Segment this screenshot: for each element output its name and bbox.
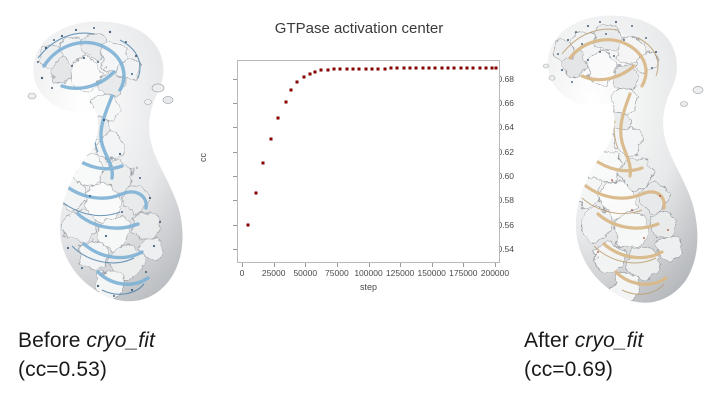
data-point: [402, 67, 405, 70]
data-point: [465, 67, 468, 70]
cc-vs-step-chart: GTPase activation center cc 0.540.560.58…: [204, 8, 514, 298]
x-tick-mark: [369, 263, 370, 267]
data-point: [472, 67, 475, 70]
x-tick-mark: [274, 263, 275, 267]
data-point: [302, 75, 305, 78]
x-tick-label: 0: [240, 268, 245, 278]
x-tick-label: 100000: [354, 268, 382, 278]
x-tick-mark: [305, 263, 306, 267]
data-point: [358, 67, 361, 70]
data-point: [446, 67, 449, 70]
x-tick-mark: [495, 263, 496, 267]
x-tick-label: 75000: [325, 268, 349, 278]
data-point: [408, 67, 411, 70]
data-point: [309, 72, 312, 75]
data-point: [262, 161, 265, 164]
data-point: [247, 224, 250, 227]
caption-after-cc: (cc=0.69): [524, 356, 643, 385]
data-point: [277, 117, 280, 120]
data-point: [415, 67, 418, 70]
data-point: [377, 67, 380, 70]
x-axis-label: step: [237, 282, 500, 292]
data-point: [254, 192, 257, 195]
x-tick-label: 175000: [449, 268, 477, 278]
caption-before: Before cryo_fit (cc=0.53): [18, 327, 155, 385]
x-tick-mark: [400, 263, 401, 267]
chart-title: GTPase activation center: [204, 20, 514, 37]
data-point: [296, 81, 299, 84]
x-tick-label: 50000: [293, 268, 317, 278]
caption-before-cc: (cc=0.53): [18, 356, 155, 385]
caption-after: After cryo_fit (cc=0.69): [524, 327, 643, 385]
data-point: [320, 69, 323, 72]
cryo-em-density-after-svg: [512, 0, 720, 320]
x-tick-mark: [463, 263, 464, 267]
molecule-image-before: [2, 0, 212, 320]
caption-after-prefix: After: [524, 329, 575, 352]
data-point: [290, 88, 293, 91]
data-point: [285, 101, 288, 104]
data-point: [396, 67, 399, 70]
caption-before-italic: cryo_fit: [86, 329, 155, 352]
plot-area: [237, 60, 500, 263]
x-tick-mark: [432, 263, 433, 267]
data-point: [326, 68, 329, 71]
x-tick-label: 25000: [262, 268, 286, 278]
caption-before-prefix: Before: [18, 329, 86, 352]
density-surface-after: [512, 0, 720, 320]
data-point: [339, 67, 342, 70]
data-point: [427, 67, 430, 70]
y-axis-label: cc: [198, 153, 208, 162]
x-tick-label: 125000: [386, 268, 414, 278]
data-point: [459, 67, 462, 70]
x-tick-label: 200000: [481, 268, 509, 278]
data-point: [314, 70, 317, 73]
data-point: [371, 67, 374, 70]
data-point: [383, 67, 386, 70]
data-point: [478, 67, 481, 70]
data-point: [440, 67, 443, 70]
x-tick-mark: [242, 263, 243, 267]
data-point: [491, 67, 494, 70]
data-point: [484, 67, 487, 70]
data-point: [494, 67, 497, 70]
data-point: [453, 67, 456, 70]
x-tick-label: 150000: [418, 268, 446, 278]
density-surface-before: [2, 0, 212, 320]
data-point: [345, 67, 348, 70]
data-point: [434, 67, 437, 70]
data-point: [364, 67, 367, 70]
data-point: [421, 67, 424, 70]
x-tick-mark: [337, 263, 338, 267]
molecule-image-after: [512, 0, 720, 320]
caption-after-italic: cryo_fit: [575, 329, 644, 352]
data-point: [389, 67, 392, 70]
data-point: [352, 67, 355, 70]
cryo-em-density-before-svg: [2, 0, 212, 320]
data-point: [269, 137, 272, 140]
data-point: [333, 68, 336, 71]
